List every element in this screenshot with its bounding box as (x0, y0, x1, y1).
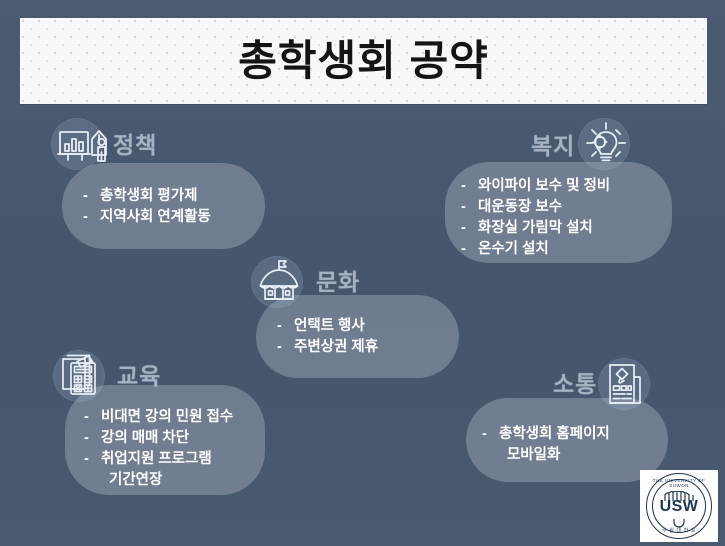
seal-bottom-text: 수 원 대 학 교 (645, 529, 713, 534)
list-item: - 언택트 행사 (277, 316, 378, 337)
bullet-text: 와이파이 보수 및 정비 (478, 176, 610, 197)
bullet-dash: - (461, 239, 478, 260)
bullet-dash: - (277, 337, 294, 358)
slide-canvas: 총학생회 공약 정책 - (0, 0, 725, 546)
list-item: - 지역사회 연계활동 (83, 207, 211, 228)
bullet-text: 대운동장 보수 (478, 197, 562, 218)
bullet-dash: - (84, 449, 101, 470)
bullet-dash: - (461, 197, 478, 218)
welfare-label: 복지 (531, 127, 575, 161)
bullet-dash: - (83, 207, 100, 228)
policy-bullets: - 총학생회 평가제 - 지역사회 연계활동 (83, 186, 211, 228)
culture-bullets: - 언택트 행사 - 주변상권 제휴 (277, 316, 378, 358)
bullet-dash: - (84, 428, 101, 449)
circus-tent-icon (256, 258, 302, 304)
bullet-text: 총학생회 홈페이지 (499, 424, 610, 445)
lightbulb-gear-icon (583, 121, 629, 167)
seal-monogram: USW (645, 499, 713, 515)
bullet-text: 온수기 설치 (478, 239, 549, 260)
communication-bullets: - 총학생회 홈페이지 모바일화 (482, 424, 610, 466)
list-item: - 대운동장 보수 (461, 197, 610, 218)
bullet-dash: - (482, 424, 499, 445)
calculator-documents-icon (58, 353, 104, 399)
bullet-text: 주변상권 제휴 (294, 337, 378, 358)
list-item: 기간연장 (84, 470, 233, 491)
list-item: - 강의 매매 차단 (84, 428, 233, 449)
bullet-text-continuation: 모바일화 (482, 445, 560, 466)
list-item: 모바일화 (482, 445, 610, 466)
bullet-dash: - (277, 316, 294, 337)
education-label: 교육 (117, 357, 161, 391)
bullet-text: 비대면 강의 민원 접수 (101, 407, 233, 428)
bullet-text: 지역사회 연계활동 (100, 207, 211, 228)
bullet-dash: - (461, 176, 478, 197)
list-item: - 취업지원 프로그램 (84, 449, 233, 470)
bullet-text-continuation: 기간연장 (84, 470, 162, 491)
bullet-text: 화장실 가림막 설치 (478, 218, 593, 239)
list-item: - 온수기 설치 (461, 239, 610, 260)
bullet-dash: - (83, 186, 100, 207)
list-item: - 화장실 가림막 설치 (461, 218, 610, 239)
bullet-dash: - (461, 218, 478, 239)
bullet-text: 강의 매매 차단 (101, 428, 189, 449)
welfare-bullets: - 와이파이 보수 및 정비 - 대운동장 보수 - 화장실 가림막 설치 - … (461, 176, 610, 260)
title-panel: 총학생회 공약 (20, 18, 707, 104)
list-item: - 와이파이 보수 및 정비 (461, 176, 610, 197)
megaphone-document-icon (606, 361, 648, 407)
university-of-suwon-seal: THE UNIVERSITY OF SUWON USW 수 원 대 학 교 (640, 470, 718, 542)
bullet-dash: - (84, 407, 101, 428)
list-item: - 주변상권 제휴 (277, 337, 378, 358)
list-item: - 총학생회 평가제 (83, 186, 211, 207)
list-item: - 총학생회 홈페이지 (482, 424, 610, 445)
bullet-text: 총학생회 평가제 (100, 186, 197, 207)
communication-label: 소통 (553, 365, 597, 399)
presentation-chart-icon (56, 122, 112, 168)
bullet-text: 취업지원 프로그램 (101, 449, 212, 470)
bullet-text: 언택트 행사 (294, 316, 365, 337)
culture-label: 문화 (316, 263, 360, 297)
page-title: 총학생회 공약 (238, 40, 489, 82)
seal-top-text: THE UNIVERSITY OF SUWON (645, 479, 713, 488)
education-bullets: - 비대면 강의 민원 접수 - 강의 매매 차단 - 취업지원 프로그램 기간… (84, 407, 233, 491)
policy-label: 정책 (113, 126, 157, 160)
list-item: - 비대면 강의 민원 접수 (84, 407, 233, 428)
